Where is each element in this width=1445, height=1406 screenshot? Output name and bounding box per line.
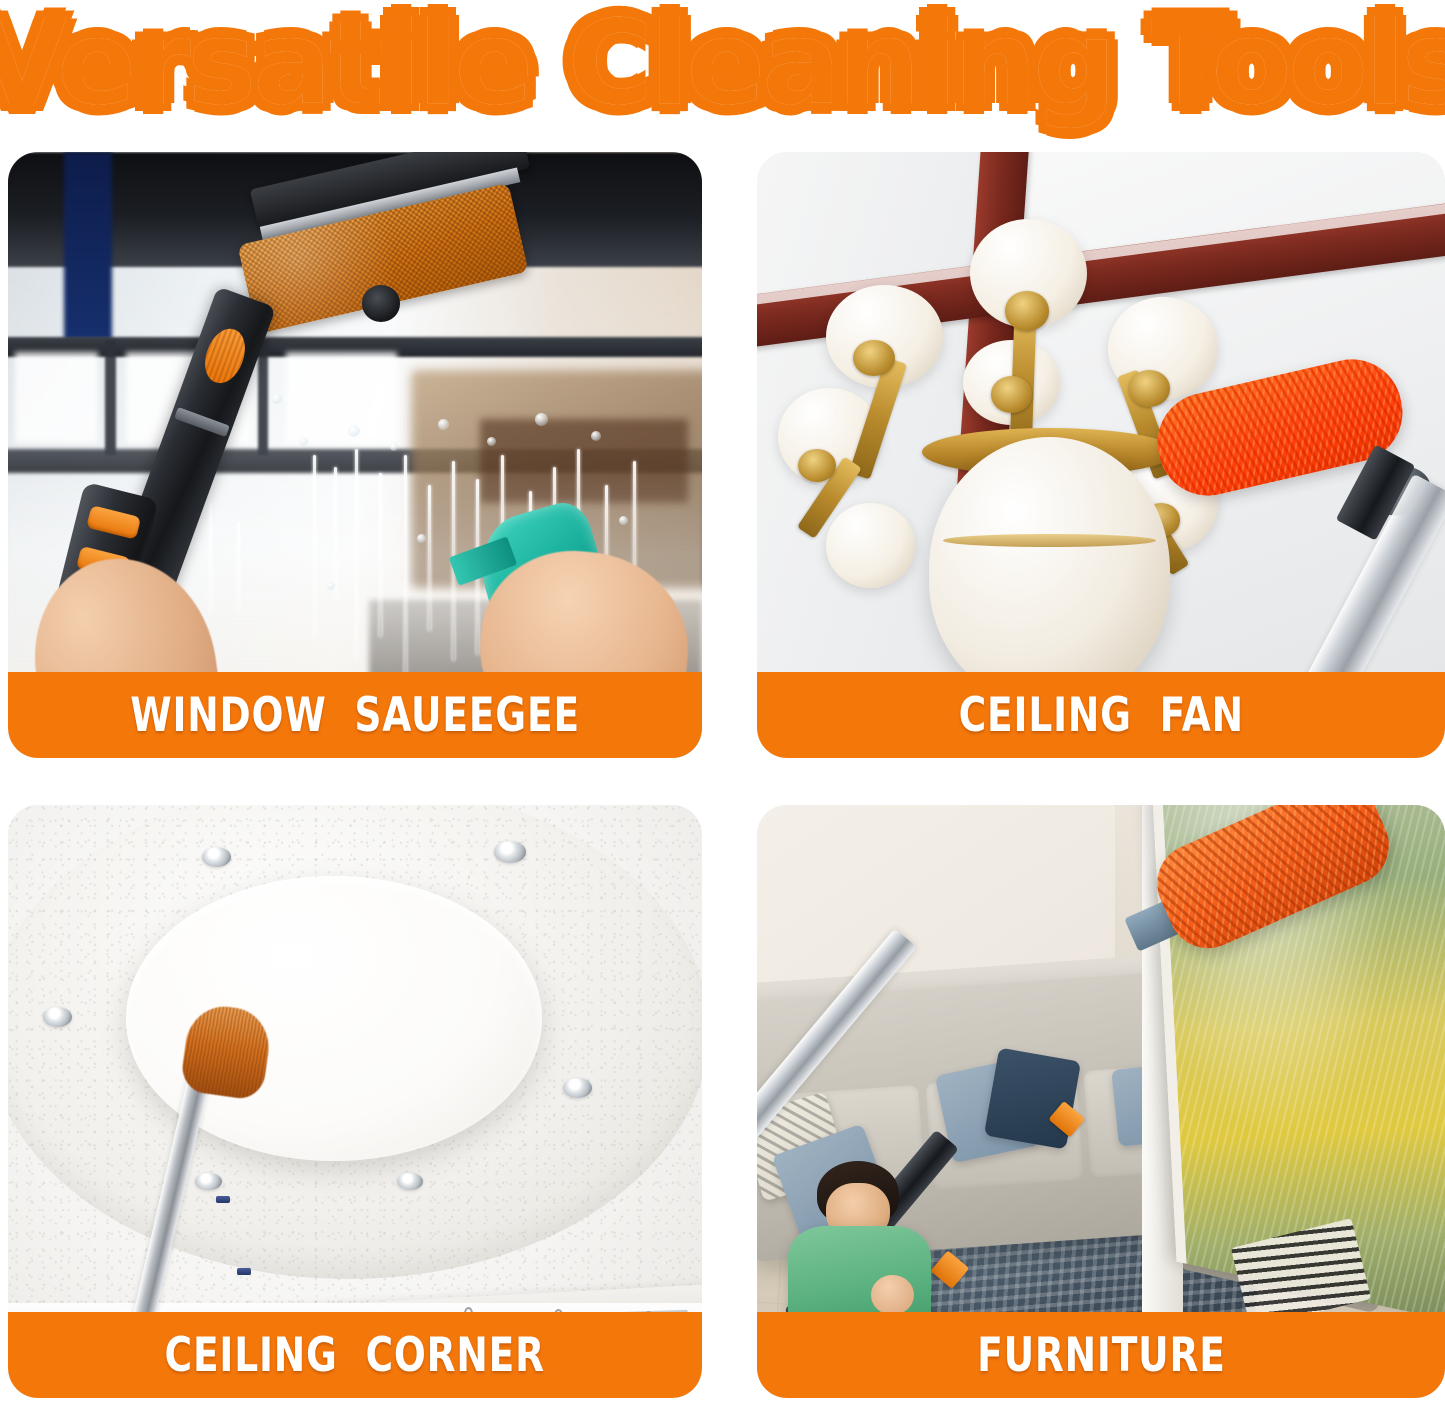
blue-wall-accent	[64, 152, 113, 340]
panel-label-window-squeegee: WINDOW SAUEEGEE	[130, 688, 580, 743]
chandelier-alabaster-bowl	[929, 437, 1170, 704]
panel-label-banner-ceiling-fan: CEILING FAN	[757, 672, 1445, 758]
chandelier-rosette	[853, 340, 894, 376]
window-pane-1	[15, 352, 98, 443]
person-hands-on-pole	[871, 1275, 914, 1315]
chandelier-globe	[826, 503, 915, 588]
water-streak	[334, 467, 337, 600]
recessed-downlight	[43, 1007, 72, 1027]
water-droplet	[619, 516, 628, 525]
recessed-downlight	[563, 1078, 592, 1098]
page-title-banner: Versatile Cleaning Tools	[0, 0, 1445, 128]
page-title: Versatile Cleaning Tools	[0, 0, 1445, 131]
infographic-page: Versatile Cleaning Tools	[0, 0, 1445, 1406]
panel-label-banner-furniture: FURNITURE	[757, 1312, 1445, 1398]
panel-window-squeegee[interactable]: WINDOW SAUEEGEE	[8, 152, 702, 758]
page-title-outline: Versatile Cleaning Tools	[0, 9, 1445, 119]
handle-grip-pad	[87, 505, 142, 540]
water-streak	[209, 503, 212, 612]
water-streak	[428, 485, 431, 630]
recessed-downlight	[195, 1173, 221, 1191]
window-mullion-2	[258, 340, 268, 455]
water-droplet	[535, 413, 548, 426]
panel-label-ceiling-fan: CEILING FAN	[958, 688, 1243, 743]
chandelier-rosette	[1129, 370, 1170, 406]
water-droplet	[487, 437, 496, 446]
photo-furniture	[757, 805, 1445, 1398]
panel-label-furniture: FURNITURE	[977, 1328, 1226, 1383]
squeegee-pivot-hub	[362, 285, 400, 321]
water-droplet	[591, 431, 601, 441]
photo-window-squeegee	[8, 152, 702, 758]
panel-furniture[interactable]: FURNITURE	[757, 805, 1445, 1398]
panel-label-banner-ceiling-corner: CEILING CORNER	[8, 1312, 702, 1398]
panel-ceiling-corner[interactable]: CEILING CORNER	[8, 805, 702, 1398]
water-droplet	[438, 419, 449, 430]
window-mullion-1	[105, 340, 116, 455]
chandelier-rosette	[991, 376, 1032, 412]
pole-joint-marker	[237, 1268, 251, 1275]
pole-joint-marker	[216, 1196, 230, 1203]
panel-ceiling-fan[interactable]: CEILING FAN	[757, 152, 1445, 758]
water-streak	[313, 455, 316, 637]
water-streak	[237, 522, 240, 613]
water-streak	[355, 449, 358, 661]
window-pane-3	[286, 352, 397, 443]
photo-ceiling-corner	[8, 805, 702, 1398]
squeegee-pole-collar	[174, 407, 230, 437]
water-droplet	[390, 443, 398, 451]
recessed-downlight	[202, 847, 231, 867]
recessed-downlight	[494, 841, 526, 864]
water-streak	[404, 455, 407, 685]
chandelier-rosette	[1005, 291, 1050, 330]
photo-ceiling-fan	[757, 152, 1445, 758]
water-droplet	[348, 425, 360, 437]
feature-panel-grid: WINDOW SAUEEGEE	[8, 152, 1437, 1398]
squeegee-orange-grip-oval	[199, 324, 252, 389]
water-streak	[379, 473, 382, 637]
panel-label-ceiling-corner: CEILING CORNER	[165, 1328, 545, 1383]
chandelier-bowl-band	[943, 534, 1156, 547]
panel-label-banner-window-squeegee: WINDOW SAUEEGEE	[8, 672, 702, 758]
